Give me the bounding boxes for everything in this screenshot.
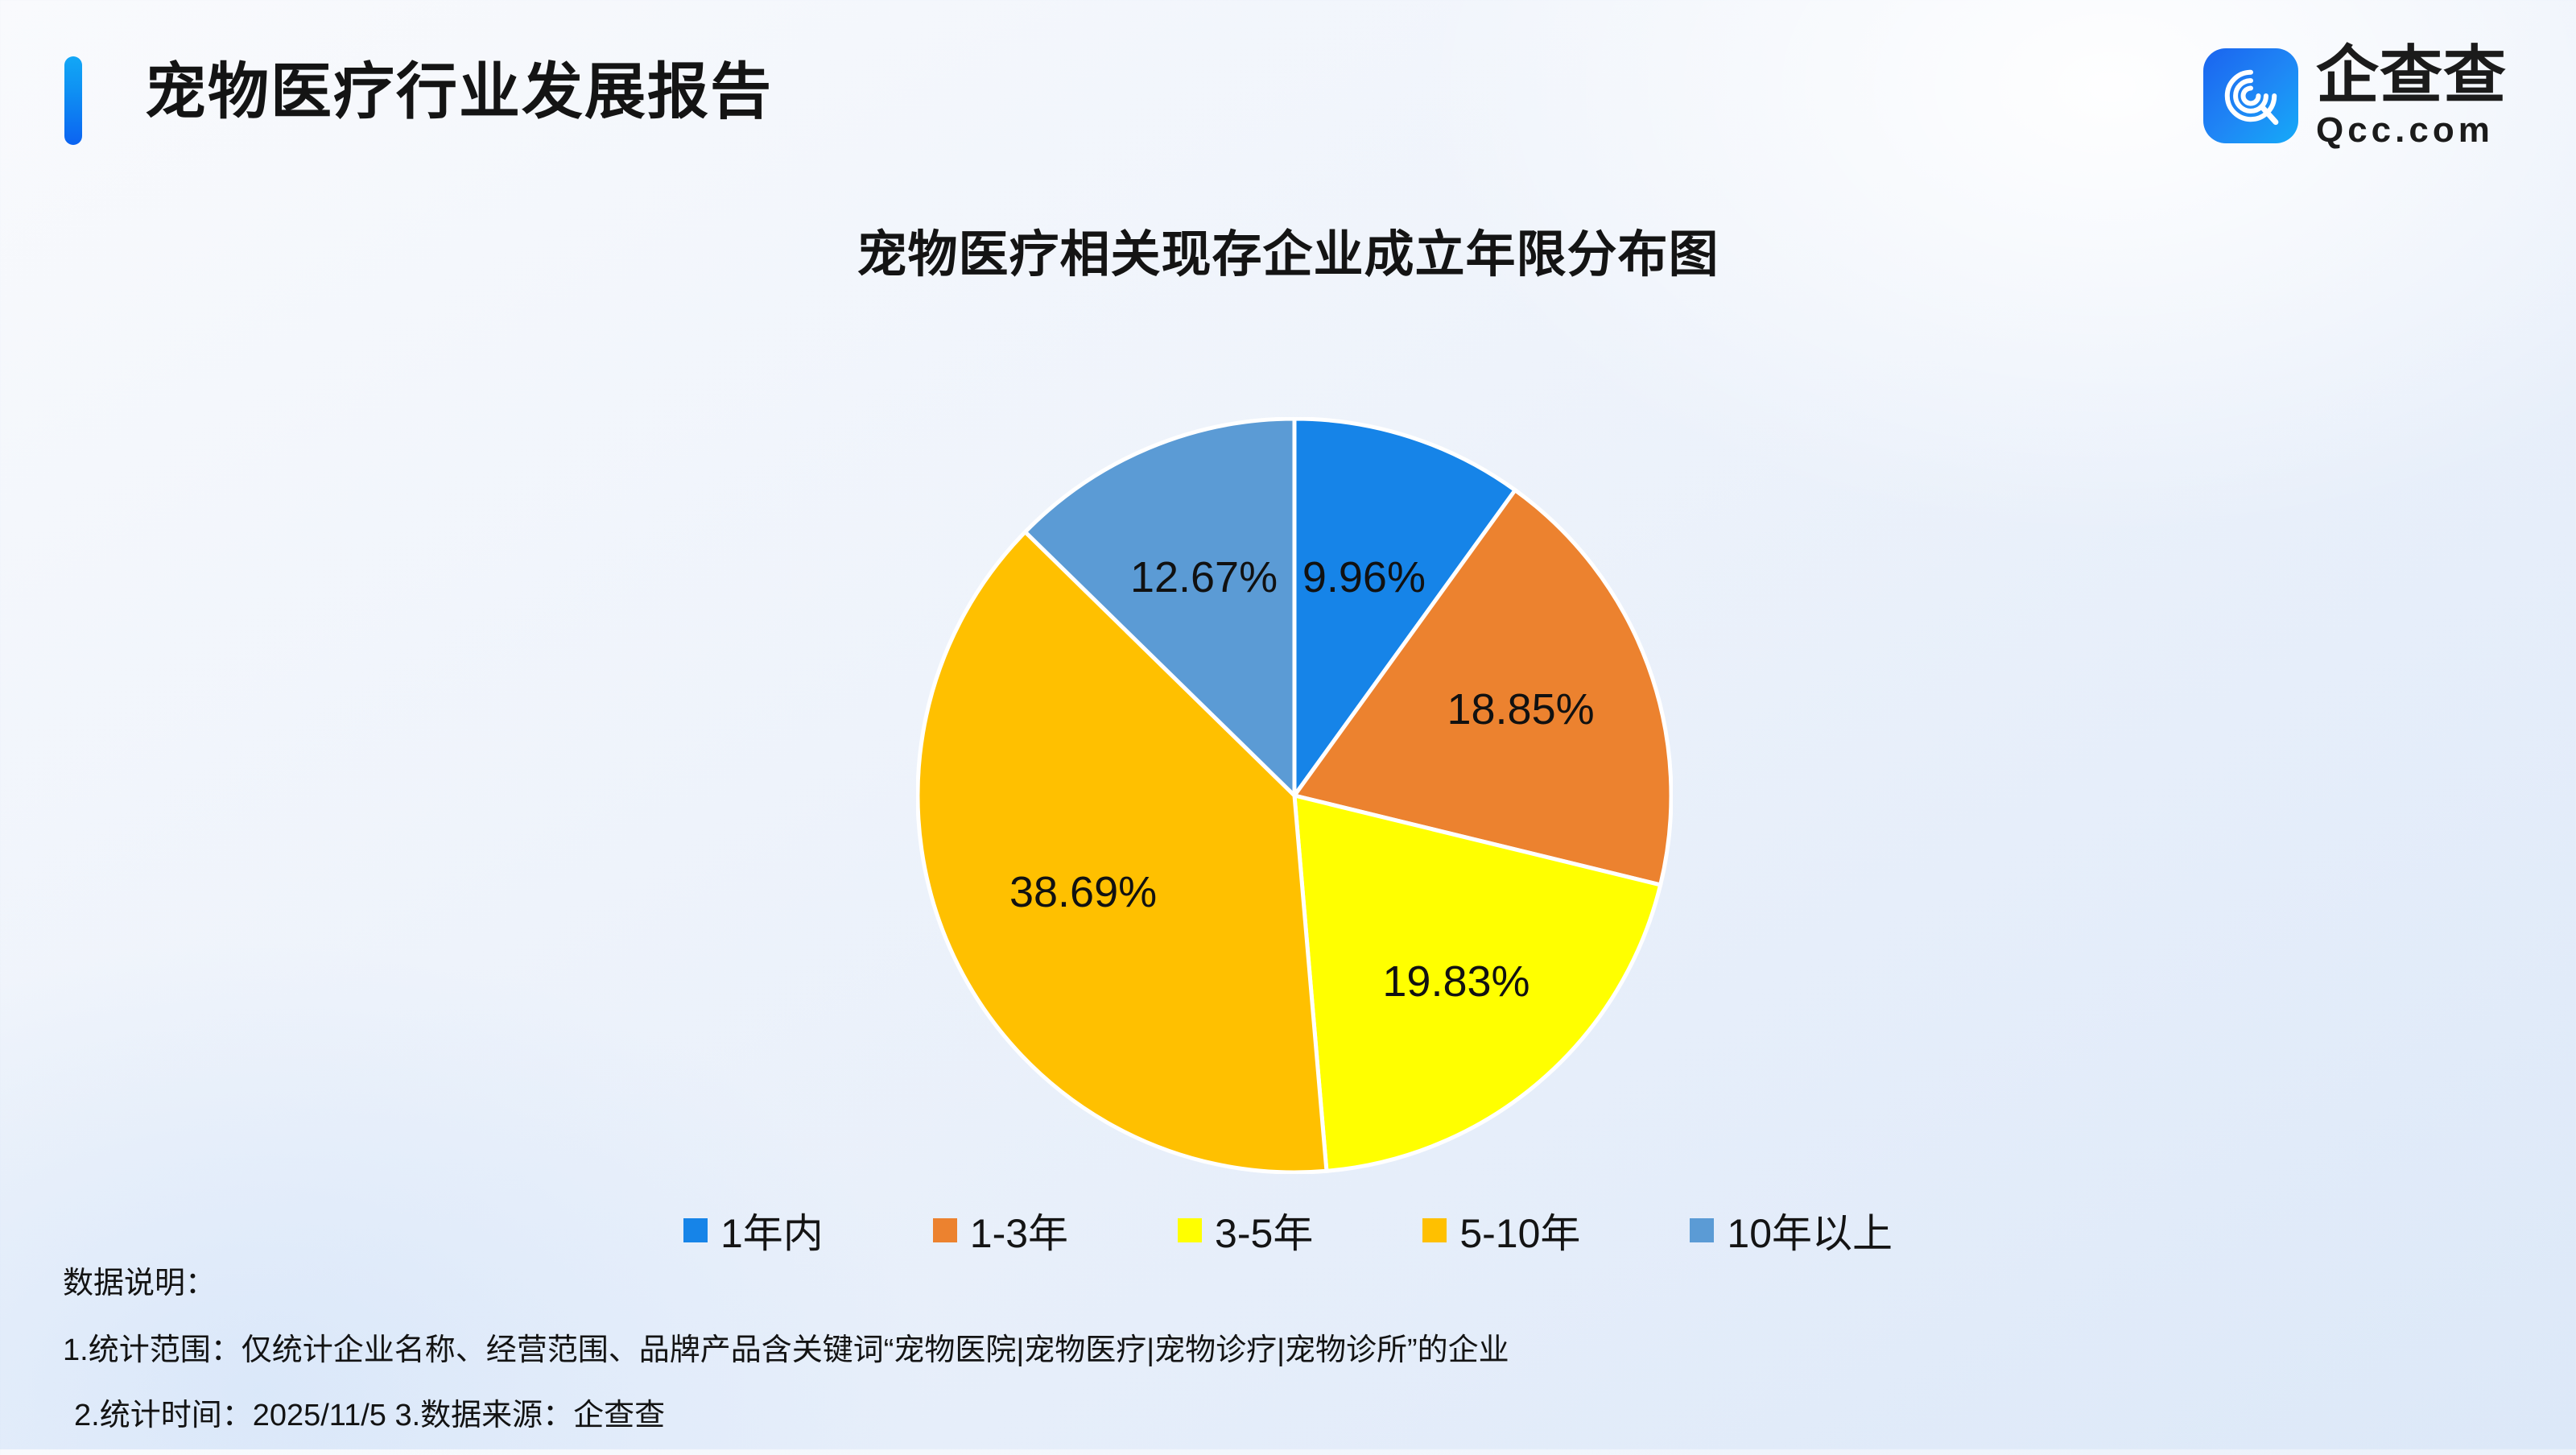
chart-legend: 1年内1-3年3-5年5-10年10年以上	[0, 1201, 2576, 1259]
page-title: 宠物医疗行业发展报告	[145, 42, 773, 130]
legend-label: 1年内	[720, 1201, 824, 1259]
legend-item-1-3年[interactable]: 1-3年	[933, 1201, 1068, 1259]
pie-slice-label-1年内: 9.96%	[1302, 553, 1426, 601]
legend-item-3-5年[interactable]: 3-5年	[1178, 1201, 1313, 1259]
legend-swatch-icon	[1422, 1218, 1447, 1242]
legend-label: 10年以上	[1727, 1201, 1893, 1259]
brand-name-en: Qcc.com	[2316, 113, 2507, 148]
pie-slice-group	[918, 419, 1671, 1172]
brand-logo: 企查查 Qcc.com	[2203, 43, 2507, 148]
legend-label: 1-3年	[970, 1201, 1068, 1259]
note-line-1: 1.统计范围：仅统计企业名称、经营范围、品牌产品含关键词“宠物医院|宠物医疗|宠…	[63, 1325, 2397, 1369]
pie-slice-label-5-10年: 38.69%	[1009, 868, 1157, 916]
data-notes: 数据说明： 1.统计范围：仅统计企业名称、经营范围、品牌产品含关键词“宠物医院|…	[63, 1258, 2397, 1455]
legend-label: 3-5年	[1215, 1201, 1313, 1259]
brand-wordmark: 企查查 Qcc.com	[2316, 43, 2507, 148]
legend-swatch-icon	[1690, 1218, 1714, 1242]
legend-swatch-icon	[1178, 1218, 1202, 1242]
chart-title: 宠物医疗相关现存企业成立年限分布图	[0, 213, 2576, 286]
legend-swatch-icon	[933, 1218, 957, 1242]
pie-chart-svg: 9.96%18.85%19.83%38.69%12.67%	[916, 417, 1673, 1174]
legend-item-5-10年[interactable]: 5-10年	[1422, 1201, 1580, 1259]
title-accent-bar	[64, 56, 82, 145]
pie-slice-label-1-3年: 18.85%	[1447, 685, 1594, 734]
legend-swatch-icon	[683, 1218, 708, 1242]
pie-slice-label-10年以上: 12.67%	[1130, 553, 1278, 601]
pie-slice-label-3-5年: 19.83%	[1382, 957, 1529, 1006]
page-header: 宠物医疗行业发展报告 企查查 Qcc.com	[0, 0, 2576, 185]
note-line-2: 2.统计时间：2025/11/5 3.数据来源：企查查	[63, 1390, 2397, 1434]
notes-heading: 数据说明：	[63, 1258, 2397, 1302]
pie-chart: 9.96%18.85%19.83%38.69%12.67%	[916, 417, 1673, 1174]
qcc-logo-icon	[2203, 48, 2298, 143]
legend-label: 5-10年	[1459, 1201, 1580, 1259]
brand-name-cn: 企查查	[2316, 43, 2507, 106]
legend-item-1年内[interactable]: 1年内	[683, 1201, 824, 1259]
legend-item-10年以上[interactable]: 10年以上	[1690, 1201, 1893, 1259]
